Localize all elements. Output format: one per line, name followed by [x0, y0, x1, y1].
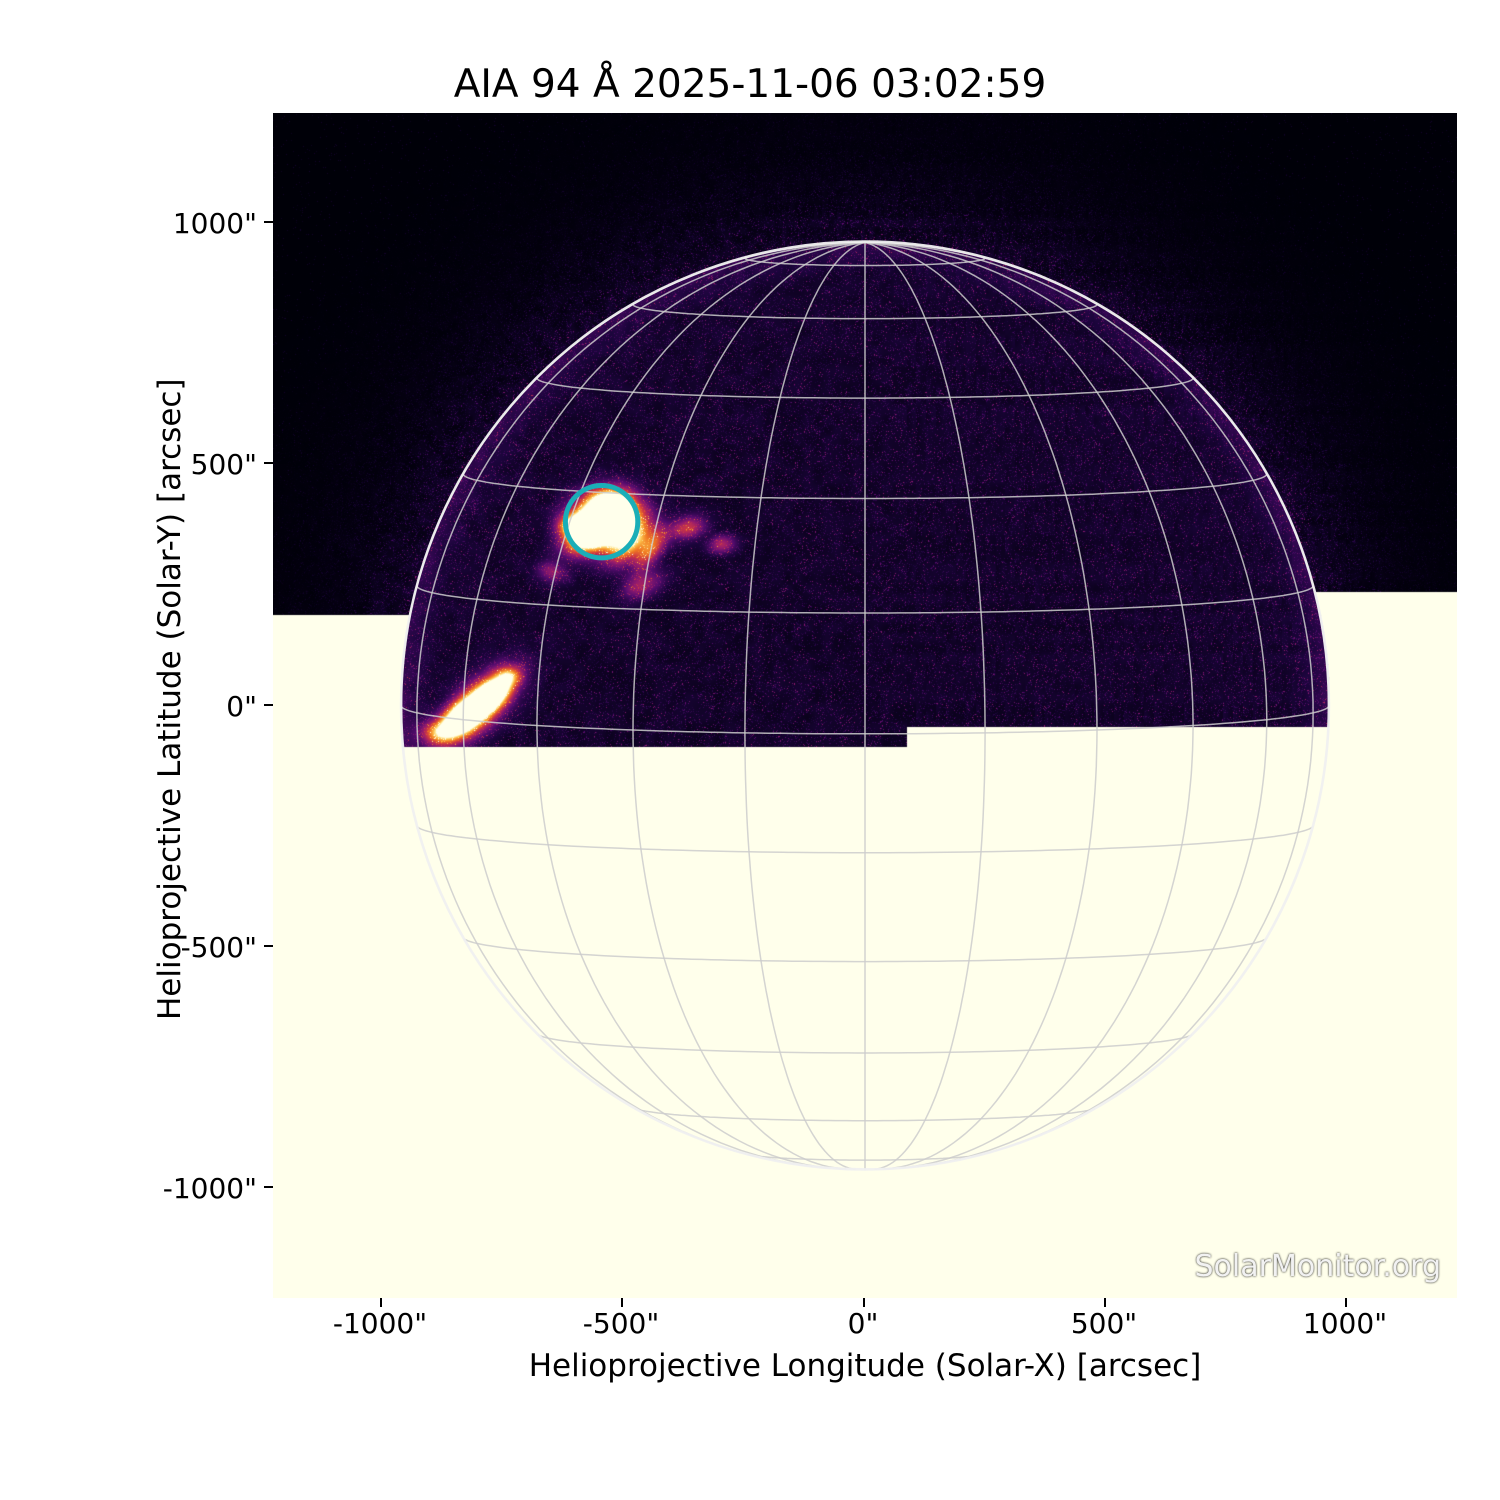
ytick-mark	[264, 462, 273, 464]
xtick-label: 0"	[848, 1307, 879, 1340]
grid-line	[865, 242, 1313, 1157]
grid-line	[401, 242, 865, 705]
grid-line	[745, 242, 865, 1169]
grid-line	[865, 242, 1329, 705]
y-axis-label: Helioprojective Latitude (Solar-Y) [arcs…	[152, 378, 188, 1020]
ytick-label: 500"	[191, 448, 257, 481]
grid-line	[633, 242, 865, 1169]
solar-image-plot-area: SolarMonitor.org	[273, 113, 1457, 1298]
solar-image-figure: AIA 94 Å 2025-11-06 03:02:59 SolarMonito…	[0, 0, 1500, 1500]
heliographic-grid	[401, 242, 1329, 1169]
xtick-label: 1000"	[1303, 1307, 1387, 1340]
grid-line	[865, 242, 985, 1169]
xtick-mark	[621, 1298, 623, 1307]
grid-line	[463, 242, 865, 1166]
grid-line	[865, 242, 1267, 1166]
ytick-label: 0"	[226, 690, 257, 723]
x-axis-label: Helioprojective Longitude (Solar-X) [arc…	[273, 1348, 1457, 1384]
xtick-mark	[380, 1298, 382, 1307]
grid-and-marker-overlay	[273, 113, 1457, 1298]
solarmonitor-watermark: SolarMonitor.org	[1195, 1249, 1441, 1284]
xtick-label: 500"	[1071, 1307, 1137, 1340]
ytick-label: 1000"	[173, 207, 257, 240]
grid-line	[865, 242, 1097, 1169]
xtick-mark	[1104, 1298, 1106, 1307]
ytick-label: -1000"	[163, 1172, 257, 1205]
ytick-mark	[264, 945, 273, 947]
active-region-marker-circle[interactable]	[565, 486, 637, 558]
ytick-mark	[264, 221, 273, 223]
ytick-mark	[264, 704, 273, 706]
xtick-mark	[863, 1298, 865, 1307]
xtick-label: -1000"	[333, 1307, 427, 1340]
xtick-label: -500"	[583, 1307, 659, 1340]
ytick-label: -500"	[181, 931, 257, 964]
ytick-mark	[264, 1186, 273, 1188]
figure-title: AIA 94 Å 2025-11-06 03:02:59	[0, 62, 1500, 107]
grid-line	[417, 242, 865, 1157]
xtick-mark	[1345, 1298, 1347, 1307]
